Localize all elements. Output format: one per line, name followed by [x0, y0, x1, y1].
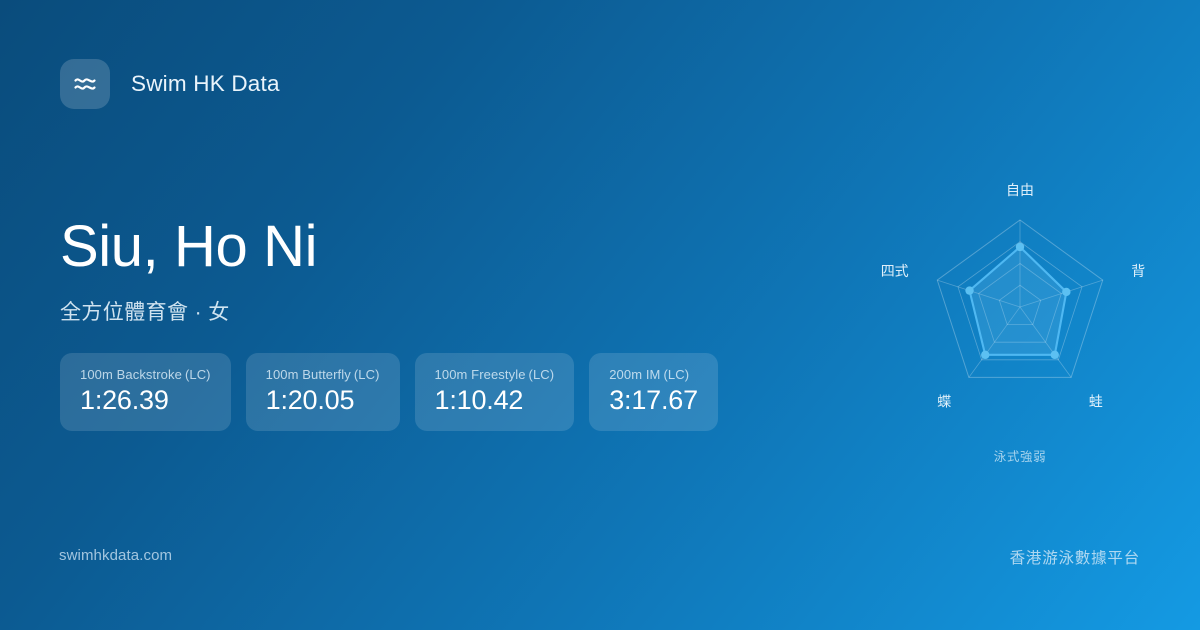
stat-course-code: (LC)	[185, 367, 211, 382]
stat-card-list: 100m Backstroke(LC) 1:26.39 100m Butterf…	[60, 353, 718, 431]
stat-course-code: (LC)	[354, 367, 380, 382]
og-card-root: Swim HK Data Siu, Ho Ni 全方位體育會 · 女 100m …	[0, 0, 1200, 630]
stat-event-name: 100m Backstroke	[80, 367, 182, 382]
stat-course-code: (LC)	[529, 367, 555, 382]
wave-icon	[60, 59, 110, 109]
radar-data-point	[965, 286, 973, 294]
stat-card: 100m Backstroke(LC) 1:26.39	[60, 353, 231, 431]
radar-axis-label-2: 蛙	[1089, 394, 1103, 410]
stat-card-value: 3:17.67	[609, 386, 698, 415]
radar-series-area	[970, 247, 1067, 355]
radar-data-point	[1051, 351, 1059, 359]
footer-site-url: swimhkdata.com	[59, 547, 172, 564]
stat-card: 100m Butterfly(LC) 1:20.05	[246, 353, 400, 431]
stat-card-value: 1:26.39	[80, 386, 211, 415]
stat-card-label: 100m Freestyle(LC)	[435, 367, 555, 382]
brand-name: Swim HK Data	[131, 71, 280, 97]
page-title: Siu, Ho Ni	[60, 218, 317, 276]
stat-card-label: 100m Butterfly(LC)	[266, 367, 380, 382]
stat-card: 100m Freestyle(LC) 1:10.42	[415, 353, 575, 431]
radar-data-point	[1016, 243, 1024, 251]
radar-axis-label-3: 蝶	[937, 394, 951, 410]
stat-course-code: (LC)	[664, 367, 690, 382]
hero-block: Siu, Ho Ni 全方位體育會 · 女	[60, 218, 317, 326]
stat-card-label: 100m Backstroke(LC)	[80, 367, 211, 382]
stat-event-name: 100m Freestyle	[435, 367, 526, 382]
radar-axis-label-4: 四式	[881, 263, 909, 279]
stat-card-value: 1:20.05	[266, 386, 380, 415]
athlete-meta: 全方位體育會 · 女	[60, 296, 317, 326]
brand-header: Swim HK Data	[60, 59, 280, 109]
stat-card: 200m IM(LC) 3:17.67	[589, 353, 718, 431]
radar-data-point	[981, 351, 989, 359]
stat-card-value: 1:10.42	[435, 386, 555, 415]
radar-chart-caption: 泳式強弱	[860, 446, 1180, 465]
radar-data-point	[1062, 288, 1070, 296]
radar-chart: 自由背蛙蝶四式 泳式強弱	[860, 165, 1180, 475]
stat-event-name: 200m IM	[609, 367, 660, 382]
radar-axis-label-1: 背	[1131, 263, 1145, 279]
footer-tagline: 香港游泳數據平台	[1010, 546, 1140, 568]
stat-event-name: 100m Butterfly	[266, 367, 351, 382]
stat-card-label: 200m IM(LC)	[609, 367, 698, 382]
radar-axis-label-0: 自由	[1006, 182, 1034, 198]
